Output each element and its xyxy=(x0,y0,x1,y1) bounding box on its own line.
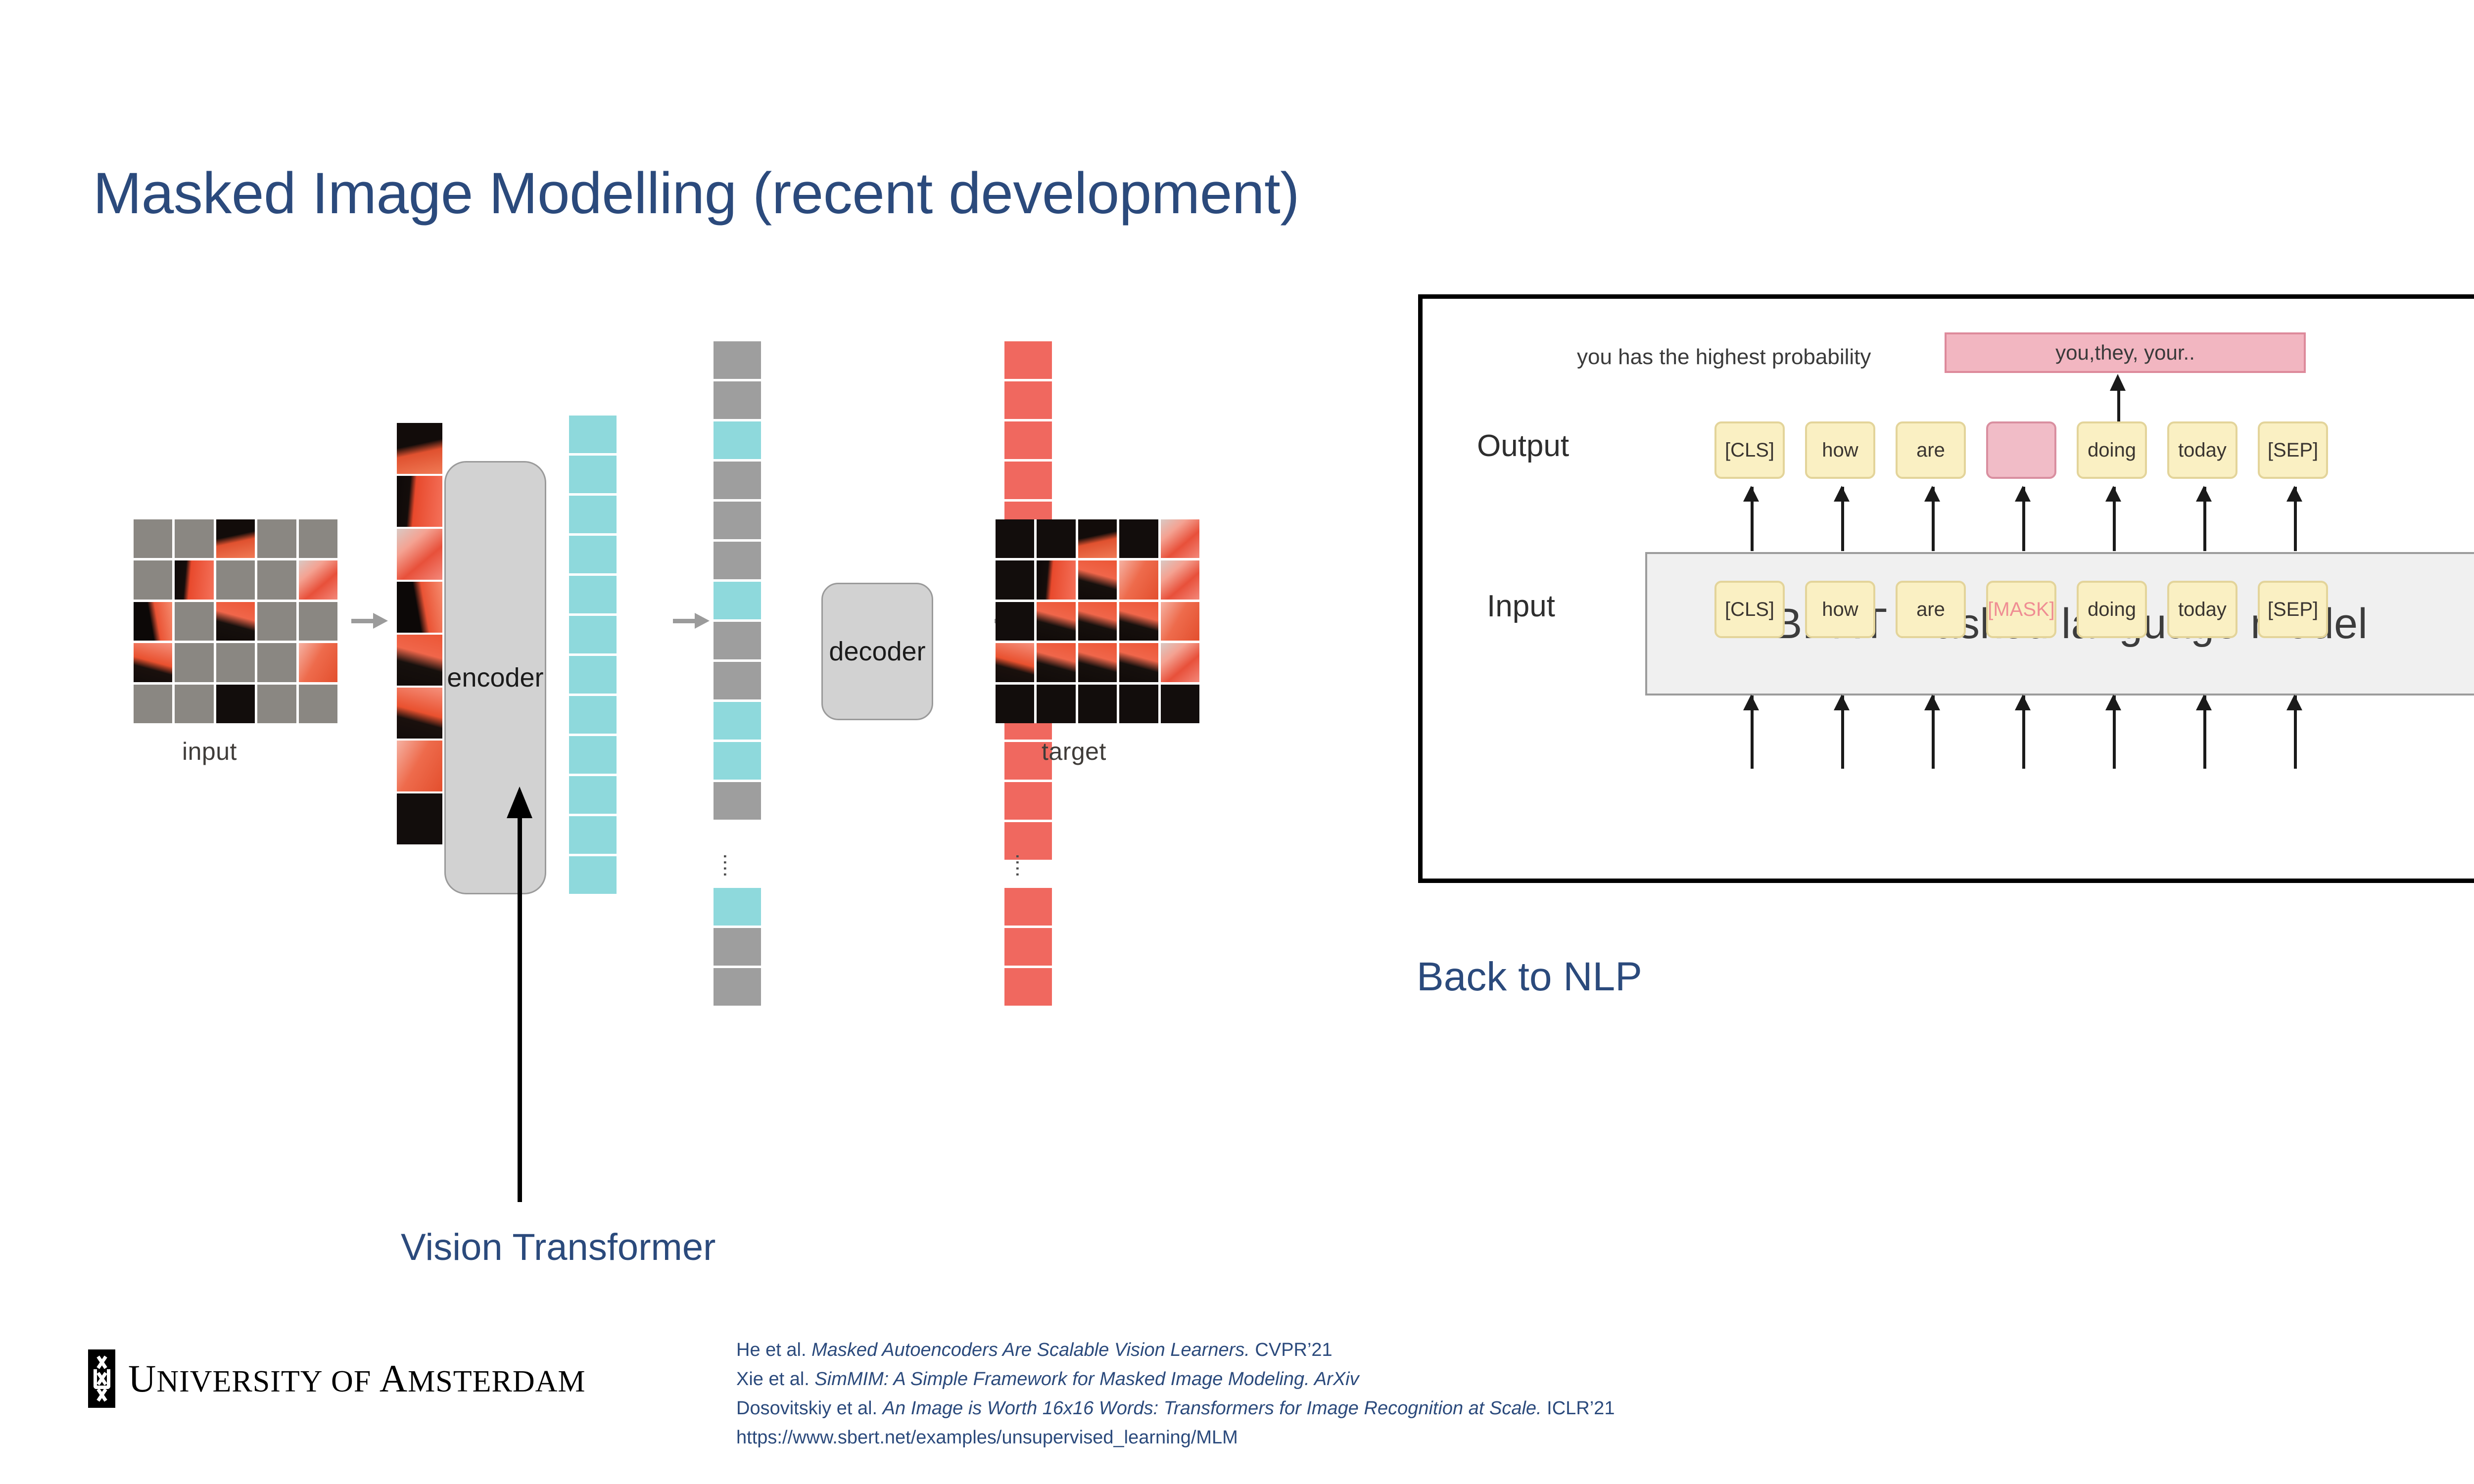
target-patch-3-2 xyxy=(1037,602,1075,641)
target-patch-4-3 xyxy=(1078,643,1117,682)
mixed-token-lower-2 xyxy=(714,928,761,966)
mixed-token-lower-1 xyxy=(714,888,761,926)
output-arrow-icon-2 xyxy=(1840,487,1845,551)
vertical-ellipsis-icon: .... xyxy=(728,853,733,878)
wordmark-u: U xyxy=(128,1357,156,1400)
target-patch-1-2 xyxy=(1037,519,1075,558)
input-patch-3-1 xyxy=(134,602,172,641)
visible-patch-8 xyxy=(397,793,442,844)
bert-mlm-figure: you has the highest probability you,they… xyxy=(1418,294,2474,883)
target-patch-3-4 xyxy=(1119,602,1158,641)
input-token-6: today xyxy=(2167,581,2237,638)
input-patch-1-5 xyxy=(299,519,337,558)
citation-list: He et al. Masked Autoencoders Are Scalab… xyxy=(736,1336,1615,1452)
output-token-7: [SEP] xyxy=(2258,421,2328,479)
target-patch-5-5 xyxy=(1161,685,1199,723)
input-patch-2-4 xyxy=(257,560,296,599)
target-patch-2-4 xyxy=(1119,560,1158,599)
output-row-label: Output xyxy=(1477,428,1569,464)
input-patch-5-5 xyxy=(299,685,337,723)
input-patch-5-3 xyxy=(216,685,255,723)
reconstruction-token-3 xyxy=(1004,421,1052,459)
visible-patch-strip xyxy=(397,423,442,844)
input-patch-3-4 xyxy=(257,602,296,641)
visible-patch-1 xyxy=(397,423,442,474)
university-wordmark: UNIVERSITY OF AMSTERDAM xyxy=(128,1356,586,1401)
reconstruction-token-lower-2 xyxy=(1004,928,1052,966)
input-patch-2-2 xyxy=(175,560,213,599)
mixed-token-3 xyxy=(714,421,761,459)
latent-token-5 xyxy=(569,576,617,613)
output-arrow-icon-3 xyxy=(1931,487,1936,551)
page-title: Masked Image Modelling (recent developme… xyxy=(93,163,1299,225)
latent-token-1 xyxy=(569,416,617,453)
input-patch-2-3 xyxy=(216,560,255,599)
latent-token-3 xyxy=(569,496,617,533)
wordmark-msterdam: MSTERDAM xyxy=(408,1365,585,1398)
mixed-token-4 xyxy=(714,462,761,499)
input-patch-4-4 xyxy=(257,643,296,682)
mixed-token-9 xyxy=(714,662,761,699)
reconstruction-token-12 xyxy=(1004,782,1052,820)
target-patch-3-1 xyxy=(996,602,1034,641)
wordmark-a: A xyxy=(380,1357,408,1400)
input-patch-4-1 xyxy=(134,643,172,682)
wordmark-niversity: NIVERSITY xyxy=(156,1365,323,1398)
input-token-2: how xyxy=(1805,581,1875,638)
input-patch-2-1 xyxy=(134,560,172,599)
mixed-token-6 xyxy=(714,542,761,579)
decoder-block: decoder xyxy=(821,583,933,720)
input-token-5: doing xyxy=(2077,581,2147,638)
reconstruction-token-column-lower xyxy=(1004,888,1052,1006)
visible-patch-6 xyxy=(397,688,442,739)
input-arrow-icon-3 xyxy=(1931,696,1936,769)
input-token-1: [CLS] xyxy=(1714,581,1785,638)
mixed-token-2 xyxy=(714,381,761,419)
mixed-token-lower-3 xyxy=(714,968,761,1006)
latent-token-9 xyxy=(569,736,617,774)
input-patch-3-3 xyxy=(216,602,255,641)
latent-token-10 xyxy=(569,776,617,814)
target-patch-5-4 xyxy=(1119,685,1158,723)
input-patch-3-5 xyxy=(299,602,337,641)
latent-token-12 xyxy=(569,856,617,894)
wordmark-of: OF xyxy=(331,1365,371,1398)
masked-input-image-grid xyxy=(134,519,337,723)
input-patch-1-3 xyxy=(216,519,255,558)
vision-transformer-label: Vision Transformer xyxy=(401,1226,715,1269)
mask-plus-latent-token-column-lower xyxy=(714,888,761,1006)
target-patch-2-1 xyxy=(996,560,1034,599)
latent-token-8 xyxy=(569,696,617,734)
input-patch-1-4 xyxy=(257,519,296,558)
output-arrow-icon-5 xyxy=(2112,487,2117,551)
input-arrow-icon-5 xyxy=(2112,696,2117,769)
prediction-banner-text: you,they, your.. xyxy=(2055,341,2195,365)
target-patch-4-2 xyxy=(1037,643,1075,682)
input-token-row: [CLS]howare[MASK]doingtoday[SEP] xyxy=(1714,581,2328,638)
reconstruction-token-lower-3 xyxy=(1004,968,1052,1006)
input-caption: input xyxy=(182,737,237,766)
flow-arrow-icon xyxy=(673,611,710,631)
output-arrow-icon-6 xyxy=(2202,487,2207,551)
output-token-4 xyxy=(1986,421,2056,479)
input-arrow-icon-6 xyxy=(2202,696,2207,769)
target-patch-5-2 xyxy=(1037,685,1075,723)
output-arrow-icon-4 xyxy=(2021,487,2026,551)
target-caption: target xyxy=(1042,737,1106,766)
reconstruction-token-2 xyxy=(1004,381,1052,419)
prediction-banner: you,they, your.. xyxy=(1945,332,2306,373)
target-patch-3-3 xyxy=(1078,602,1117,641)
mixed-token-1 xyxy=(714,341,761,379)
target-image-grid xyxy=(996,519,1199,723)
input-row-label: Input xyxy=(1487,589,1555,624)
citation-line-1: He et al. Masked Autoencoders Are Scalab… xyxy=(736,1336,1615,1365)
visible-patch-4 xyxy=(397,582,442,633)
mixed-token-7 xyxy=(714,582,761,619)
target-patch-4-4 xyxy=(1119,643,1158,682)
input-patch-5-4 xyxy=(257,685,296,723)
target-patch-1-3 xyxy=(1078,519,1117,558)
input-patch-4-2 xyxy=(175,643,213,682)
mixed-token-10 xyxy=(714,702,761,740)
target-patch-1-5 xyxy=(1161,519,1199,558)
target-patch-5-1 xyxy=(996,685,1034,723)
target-patch-2-3 xyxy=(1078,560,1117,599)
input-patch-1-2 xyxy=(175,519,213,558)
input-patch-5-1 xyxy=(134,685,172,723)
input-token-4: [MASK] xyxy=(1986,581,2056,638)
input-arrow-icon-7 xyxy=(2293,696,2298,769)
back-to-nlp-label: Back to NLP xyxy=(1417,954,1642,1000)
visible-patch-2 xyxy=(397,476,442,527)
input-arrow-icon-2 xyxy=(1840,696,1845,769)
mixed-token-11 xyxy=(714,742,761,780)
input-patch-4-5 xyxy=(299,643,337,682)
output-token-2: how xyxy=(1805,421,1875,479)
vertical-ellipsis-icon: .... xyxy=(1021,853,1026,878)
output-token-row: [CLS]howaredoingtoday[SEP] xyxy=(1714,421,2328,479)
target-patch-1-4 xyxy=(1119,519,1158,558)
input-patch-5-2 xyxy=(175,685,213,723)
latent-token-column xyxy=(569,416,617,894)
encoder-label: encoder xyxy=(447,662,543,693)
flow-arrow-icon xyxy=(351,611,388,631)
decoder-label: decoder xyxy=(829,636,925,667)
mixed-token-12 xyxy=(714,782,761,820)
output-token-3: are xyxy=(1896,421,1966,479)
citation-line-4: https://www.sbert.net/examples/unsupervi… xyxy=(736,1423,1615,1452)
mae-architecture-figure: input encoder .... decoder .... target xyxy=(124,307,1222,960)
mixed-token-5 xyxy=(714,502,761,539)
output-token-6: today xyxy=(2167,421,2237,479)
target-patch-2-2 xyxy=(1037,560,1075,599)
visible-patch-3 xyxy=(397,529,442,580)
target-patch-5-3 xyxy=(1078,685,1117,723)
amsterdam-coat-of-arms-icon xyxy=(88,1349,115,1408)
input-patch-1-1 xyxy=(134,519,172,558)
output-arrow-icon-1 xyxy=(1750,487,1755,551)
mixed-token-8 xyxy=(714,622,761,659)
reconstruction-token-1 xyxy=(1004,341,1052,379)
output-token-1: [CLS] xyxy=(1714,421,1785,479)
vision-transformer-callout-arrow-icon xyxy=(516,787,523,1202)
input-patch-2-5 xyxy=(299,560,337,599)
input-patch-4-3 xyxy=(216,643,255,682)
input-token-3: are xyxy=(1896,581,1966,638)
citation-line-3: Dosovitskiy et al. An Image is Worth 16x… xyxy=(736,1394,1615,1423)
reconstruction-token-lower-1 xyxy=(1004,888,1052,926)
target-patch-1-1 xyxy=(996,519,1034,558)
input-patch-3-2 xyxy=(175,602,213,641)
citation-line-2: Xie et al. SimMIM: A Simple Framework fo… xyxy=(736,1365,1615,1394)
latent-token-7 xyxy=(569,656,617,694)
university-of-amsterdam-logo: UNIVERSITY OF AMSTERDAM xyxy=(88,1349,586,1408)
latent-token-11 xyxy=(569,816,617,854)
prediction-hint-text: you has the highest probability xyxy=(1577,345,1871,370)
reconstruction-token-4 xyxy=(1004,462,1052,499)
latent-token-4 xyxy=(569,536,617,573)
input-arrow-icon-1 xyxy=(1750,696,1755,769)
visible-patch-7 xyxy=(397,741,442,791)
mask-plus-latent-token-column-upper xyxy=(714,341,761,820)
input-token-7: [SEP] xyxy=(2258,581,2328,638)
output-arrow-icon-7 xyxy=(2293,487,2298,551)
visible-patch-5 xyxy=(397,635,442,686)
input-arrow-icon-4 xyxy=(2021,696,2026,769)
target-patch-2-5 xyxy=(1161,560,1199,599)
latent-token-6 xyxy=(569,616,617,653)
output-token-5: doing xyxy=(2077,421,2147,479)
target-patch-4-5 xyxy=(1161,643,1199,682)
latent-token-2 xyxy=(569,456,617,493)
target-patch-4-1 xyxy=(996,643,1034,682)
encoder-block: encoder xyxy=(444,461,546,894)
target-patch-3-5 xyxy=(1161,602,1199,641)
